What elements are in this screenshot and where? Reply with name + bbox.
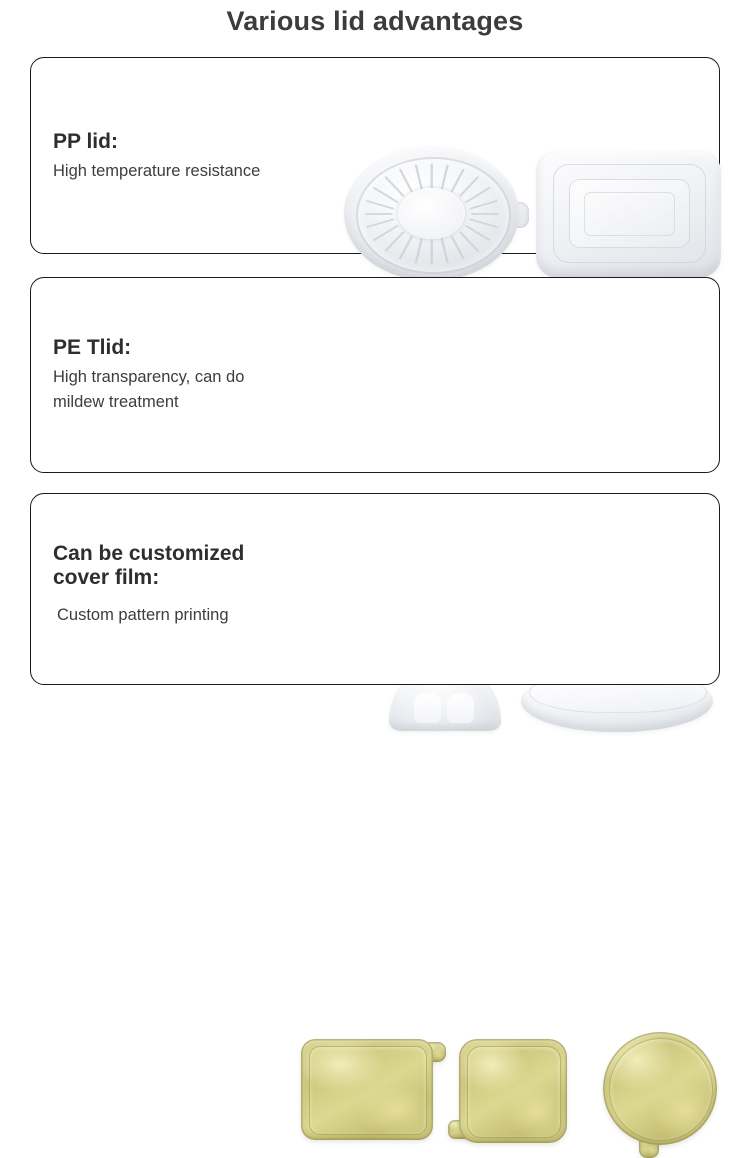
gold-rectangular-cover-inner-panel bbox=[309, 1046, 427, 1135]
gold-square-cover-inner-panel bbox=[467, 1046, 562, 1137]
pe-dome-lid-highlight-right bbox=[447, 693, 474, 723]
panel-pp-lid: PP lid: High temperature resistance bbox=[30, 57, 720, 254]
gold-rectangular-cover-image bbox=[301, 1039, 433, 1140]
page-title: Various lid advantages bbox=[0, 6, 750, 37]
panel-pp-heading: PP lid: bbox=[53, 130, 260, 154]
pp-round-lid-body bbox=[344, 146, 519, 281]
panel-cover-film-text-block: Can be customized cover film: Custom pat… bbox=[53, 542, 244, 629]
pp-round-lid-image bbox=[344, 146, 519, 281]
gold-rectangular-cover-body bbox=[301, 1039, 433, 1140]
pe-dome-lid-highlight-left bbox=[414, 693, 441, 723]
panel-pe-lid: PE Tlid: High transparency, can do milde… bbox=[30, 277, 720, 473]
pp-rectangular-lid-image bbox=[536, 150, 721, 278]
gold-round-cover-inner-panel bbox=[609, 1038, 714, 1142]
panel-pp-subtitle: High temperature resistance bbox=[53, 159, 260, 185]
panel-cover-film-subtitle: Custom pattern printing bbox=[53, 603, 244, 629]
gold-square-cover-body bbox=[459, 1039, 567, 1143]
gold-square-cover-image bbox=[459, 1039, 567, 1143]
pp-round-lid-center-panel bbox=[398, 188, 465, 239]
panel-cover-film: Can be customized cover film: Custom pat… bbox=[30, 493, 720, 685]
pp-rectangular-lid-body bbox=[536, 150, 721, 278]
gold-round-cover-image bbox=[603, 1032, 717, 1145]
gold-round-cover-body bbox=[603, 1032, 717, 1145]
panel-pe-heading: PE Tlid: bbox=[53, 336, 244, 360]
panel-pe-subtitle: High transparency, can do mildew treatme… bbox=[53, 365, 244, 416]
pp-rectangular-lid-inset-inner bbox=[584, 192, 675, 236]
panel-cover-film-heading: Can be customized cover film: bbox=[53, 542, 244, 589]
panel-pp-text-block: PP lid: High temperature resistance bbox=[53, 130, 260, 184]
panel-pe-text-block: PE Tlid: High transparency, can do milde… bbox=[53, 336, 244, 416]
